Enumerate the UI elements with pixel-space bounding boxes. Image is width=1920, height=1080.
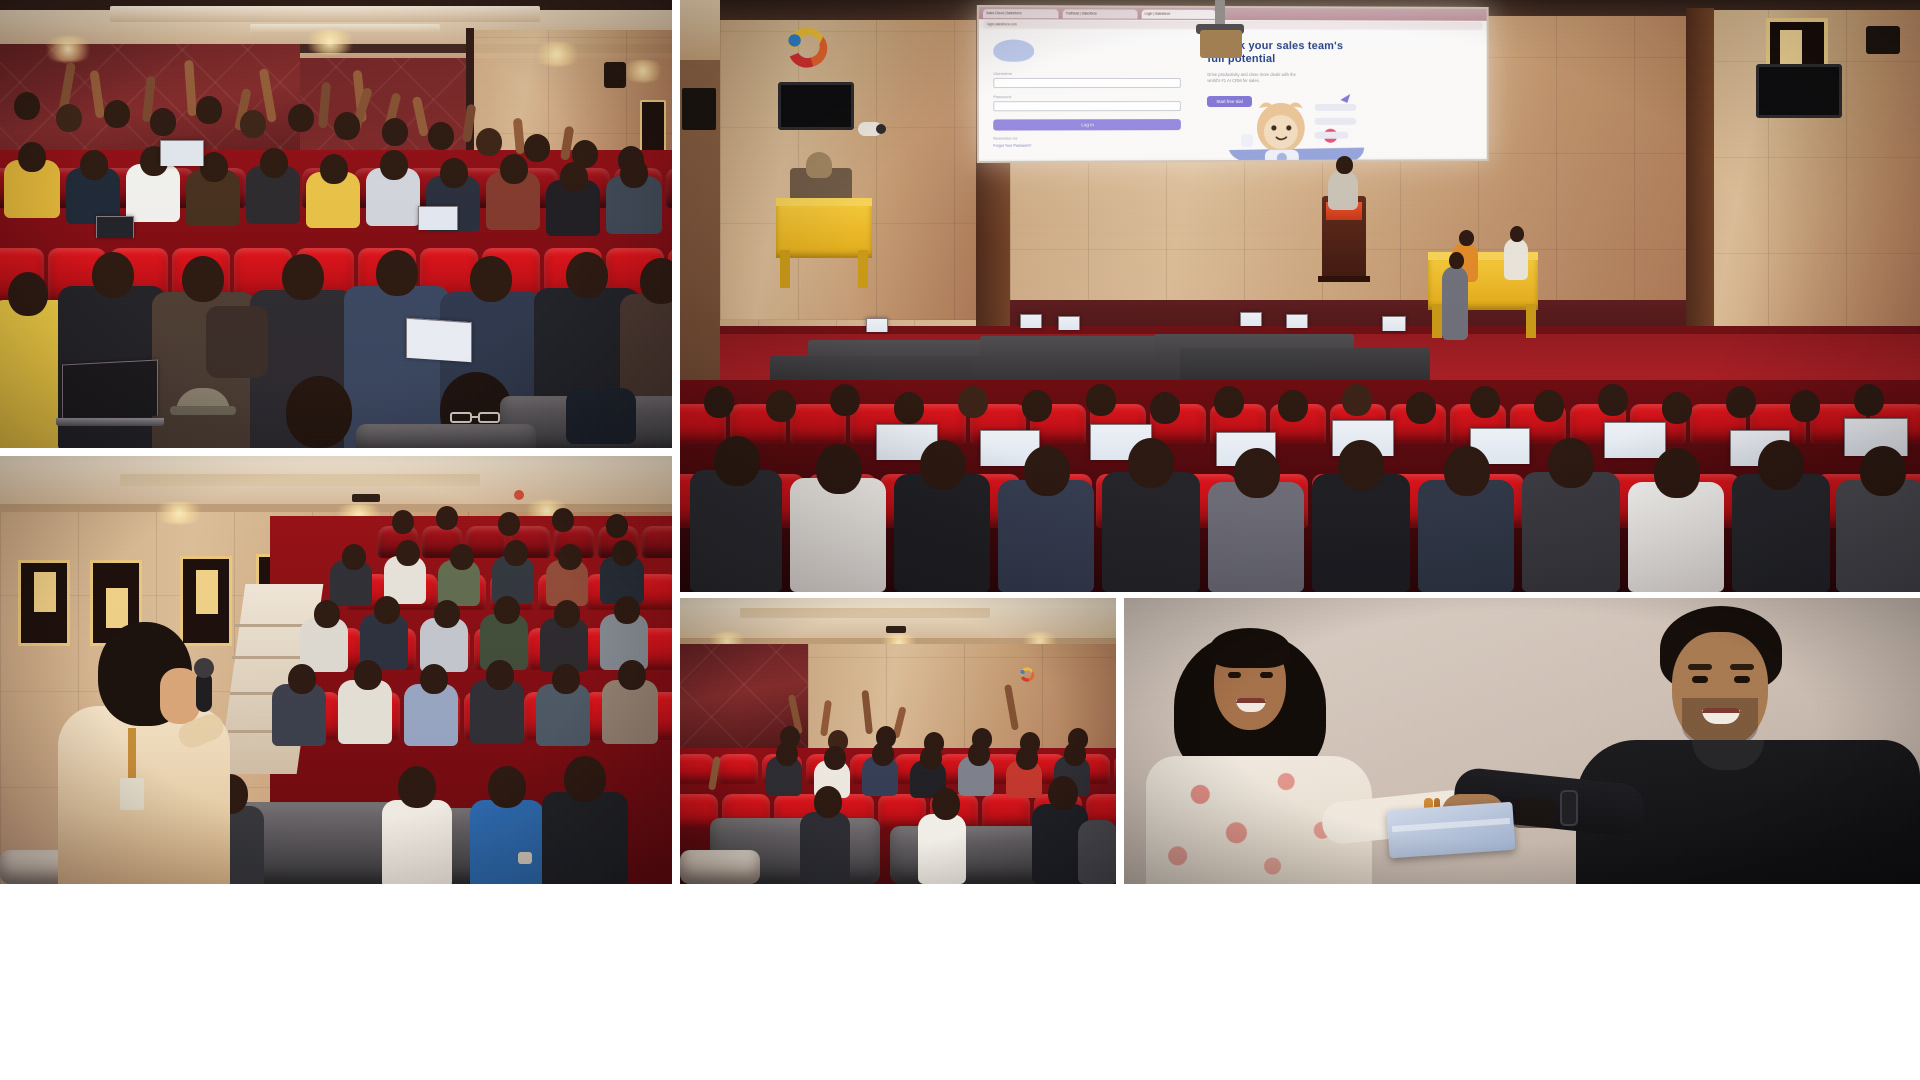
hero-headline-line1: Unlock your sales team's [1207,40,1475,53]
astro-mascot [1219,92,1368,163]
username-label: Username [993,71,1181,76]
remember-me-label[interactable]: Remember me [993,136,1181,141]
salesforce-cloud-mark [993,39,1034,61]
person-left [1182,620,1314,772]
hero-subtext-line2: world's #1 AI CRM for sales. [1207,78,1475,84]
browser-chrome: Sales Cloud | Salesforce Trailhead | Sal… [979,7,1487,21]
login-submit-button[interactable]: Log In [993,119,1181,130]
browser-tab-0[interactable]: Sales Cloud | Salesforce [983,9,1059,18]
salesforce-logo-left [776,18,838,74]
browser-tab-2[interactable]: Login | Salesforce [1142,9,1216,18]
photo-hall-wide[interactable]: Sales Cloud | Salesforce Trailhead | Sal… [680,0,1920,592]
password-label: Password [993,94,1181,99]
photo-audience-rear[interactable]: Audience from rear [680,598,1116,884]
photo-audience-hands-up[interactable]: Audience raising hands [0,0,672,448]
browser-tab-1[interactable]: Trailhead | Salesforce [1063,9,1138,18]
login-panel: Username Password Log In Remember me For… [979,29,1195,159]
salesforce-logo-hall [1016,664,1038,684]
password-input[interactable] [993,101,1181,111]
hero-headline-line2: full potential [1207,53,1475,66]
forgot-password-link[interactable]: Forgot Your Password? [993,143,1181,148]
photo-collage: Audience raising hands [0,0,1920,1080]
photo-certificate-handover[interactable]: Certificate handover portrait [1124,598,1920,884]
presenter-at-lectern [1328,170,1358,210]
username-input[interactable] [993,78,1181,88]
photo-speaker-stage[interactable]: Speaker addressing audience [0,456,672,884]
